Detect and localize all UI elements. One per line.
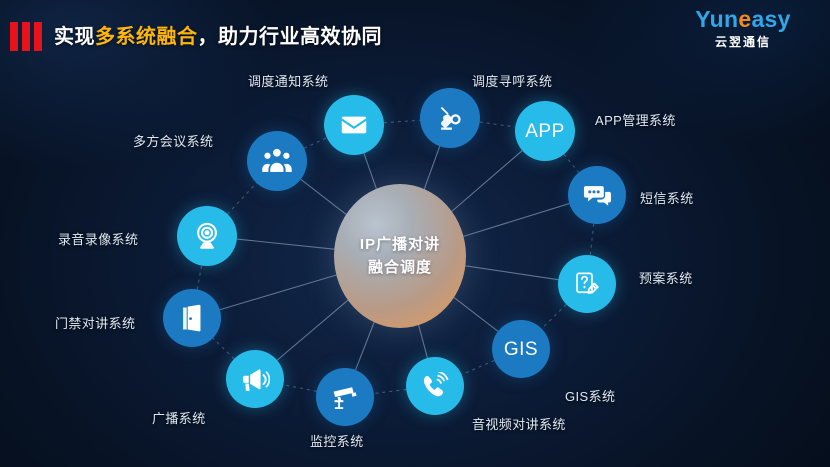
group-people-icon <box>262 146 292 176</box>
logo-word-e: e <box>738 6 751 32</box>
node-door[interactable] <box>163 289 221 347</box>
node-label-gis: GIS系统 <box>565 386 615 405</box>
node-label-cctv: 监控系统 <box>310 431 364 450</box>
gis-text-icon: GIS <box>504 340 538 359</box>
ring-edge <box>304 138 327 149</box>
node-label-record: 录音录像系统 <box>58 229 138 248</box>
cctv-icon <box>331 383 360 412</box>
ring-edge <box>564 154 579 172</box>
envelope-icon <box>339 110 369 140</box>
phone-waves-icon <box>421 372 450 401</box>
spoke-edge <box>356 322 375 370</box>
ring-edge <box>374 390 406 394</box>
logo-word-b: asy <box>751 6 790 32</box>
spoke-edge <box>454 297 498 331</box>
logo-word-a: Yun <box>695 6 738 32</box>
webcam-icon <box>192 221 222 251</box>
megaphone-icon <box>241 365 270 394</box>
node-label-pa: 广播系统 <box>152 408 206 427</box>
node-label-meeting: 多方会议系统 <box>133 131 213 150</box>
node-label-paging: 调度寻呼系统 <box>472 71 552 90</box>
ring-edge <box>480 122 516 127</box>
node-label-app: APP管理系统 <box>595 110 676 129</box>
node-record[interactable] <box>177 206 237 266</box>
spoke-edge <box>237 239 334 249</box>
page-title: 实现多系统融合，助力行业高效协同 <box>54 20 382 49</box>
spoke-edge <box>220 275 337 310</box>
node-sms[interactable] <box>568 166 626 224</box>
hub-and-spoke-diagram: IP广播对讲 融合调度 APPGIS 调度通知系统调度寻呼系统APP管理系统短信… <box>0 0 830 467</box>
node-cctv[interactable] <box>316 368 374 426</box>
slide-root: 实现多系统融合，助力行业高效协同 Yuneasy 云翌通信 IP广播对讲 融合调… <box>0 0 830 467</box>
logo-wordmark: Yuneasy <box>678 8 808 31</box>
brand-logo: Yuneasy 云翌通信 <box>678 8 808 48</box>
spoke-edge <box>463 204 569 237</box>
ring-edge <box>227 183 256 214</box>
title-highlight: 多系统融合 <box>95 26 198 48</box>
slide-header: 实现多系统融合，助力行业高效协同 Yuneasy 云翌通信 <box>0 0 830 66</box>
accent-bars-icon <box>10 22 44 51</box>
ring-edge <box>384 120 420 123</box>
node-pa[interactable] <box>226 350 284 408</box>
title-prefix: 实现 <box>54 26 95 48</box>
spoke-edge <box>465 266 558 280</box>
ring-edge <box>197 266 201 290</box>
ring-edge <box>590 224 594 255</box>
hub-line-2: 融合调度 <box>368 256 432 279</box>
ring-edge <box>542 304 567 328</box>
node-notify[interactable] <box>324 95 384 155</box>
node-label-door: 门禁对讲系统 <box>55 313 135 332</box>
walkie-talkie-icon <box>435 103 465 133</box>
node-label-notify: 调度通知系统 <box>248 71 328 90</box>
spoke-edge <box>424 146 440 189</box>
spoke-edge <box>452 151 522 212</box>
hub-node: IP广播对讲 融合调度 <box>334 184 466 328</box>
node-label-plan: 预案系统 <box>639 268 693 287</box>
spoke-edge <box>364 153 376 188</box>
logo-chinese-name: 云翌通信 <box>678 36 808 48</box>
title-suffix: ，助力行业高效协同 <box>198 26 383 48</box>
ring-edge <box>283 385 316 392</box>
ring-edge <box>462 360 495 374</box>
node-plan[interactable] <box>558 255 616 313</box>
node-gis[interactable]: GIS <box>492 320 550 378</box>
spoke-edge <box>301 179 346 214</box>
app-text-icon: APP <box>525 122 565 141</box>
spoke-edge <box>419 325 428 358</box>
node-meeting[interactable] <box>247 131 307 191</box>
node-app[interactable]: APP <box>515 101 575 161</box>
hub-line-1: IP广播对讲 <box>360 233 440 256</box>
node-avtalk[interactable] <box>406 357 464 415</box>
spoke-edge <box>277 300 348 360</box>
node-label-sms: 短信系统 <box>640 188 694 207</box>
ring-edge <box>213 338 234 359</box>
node-label-avtalk: 音视频对讲系统 <box>472 414 566 433</box>
node-paging[interactable] <box>420 88 480 148</box>
document-question-icon <box>573 270 602 299</box>
chat-bubbles-icon <box>583 181 612 210</box>
door-icon <box>178 304 207 333</box>
